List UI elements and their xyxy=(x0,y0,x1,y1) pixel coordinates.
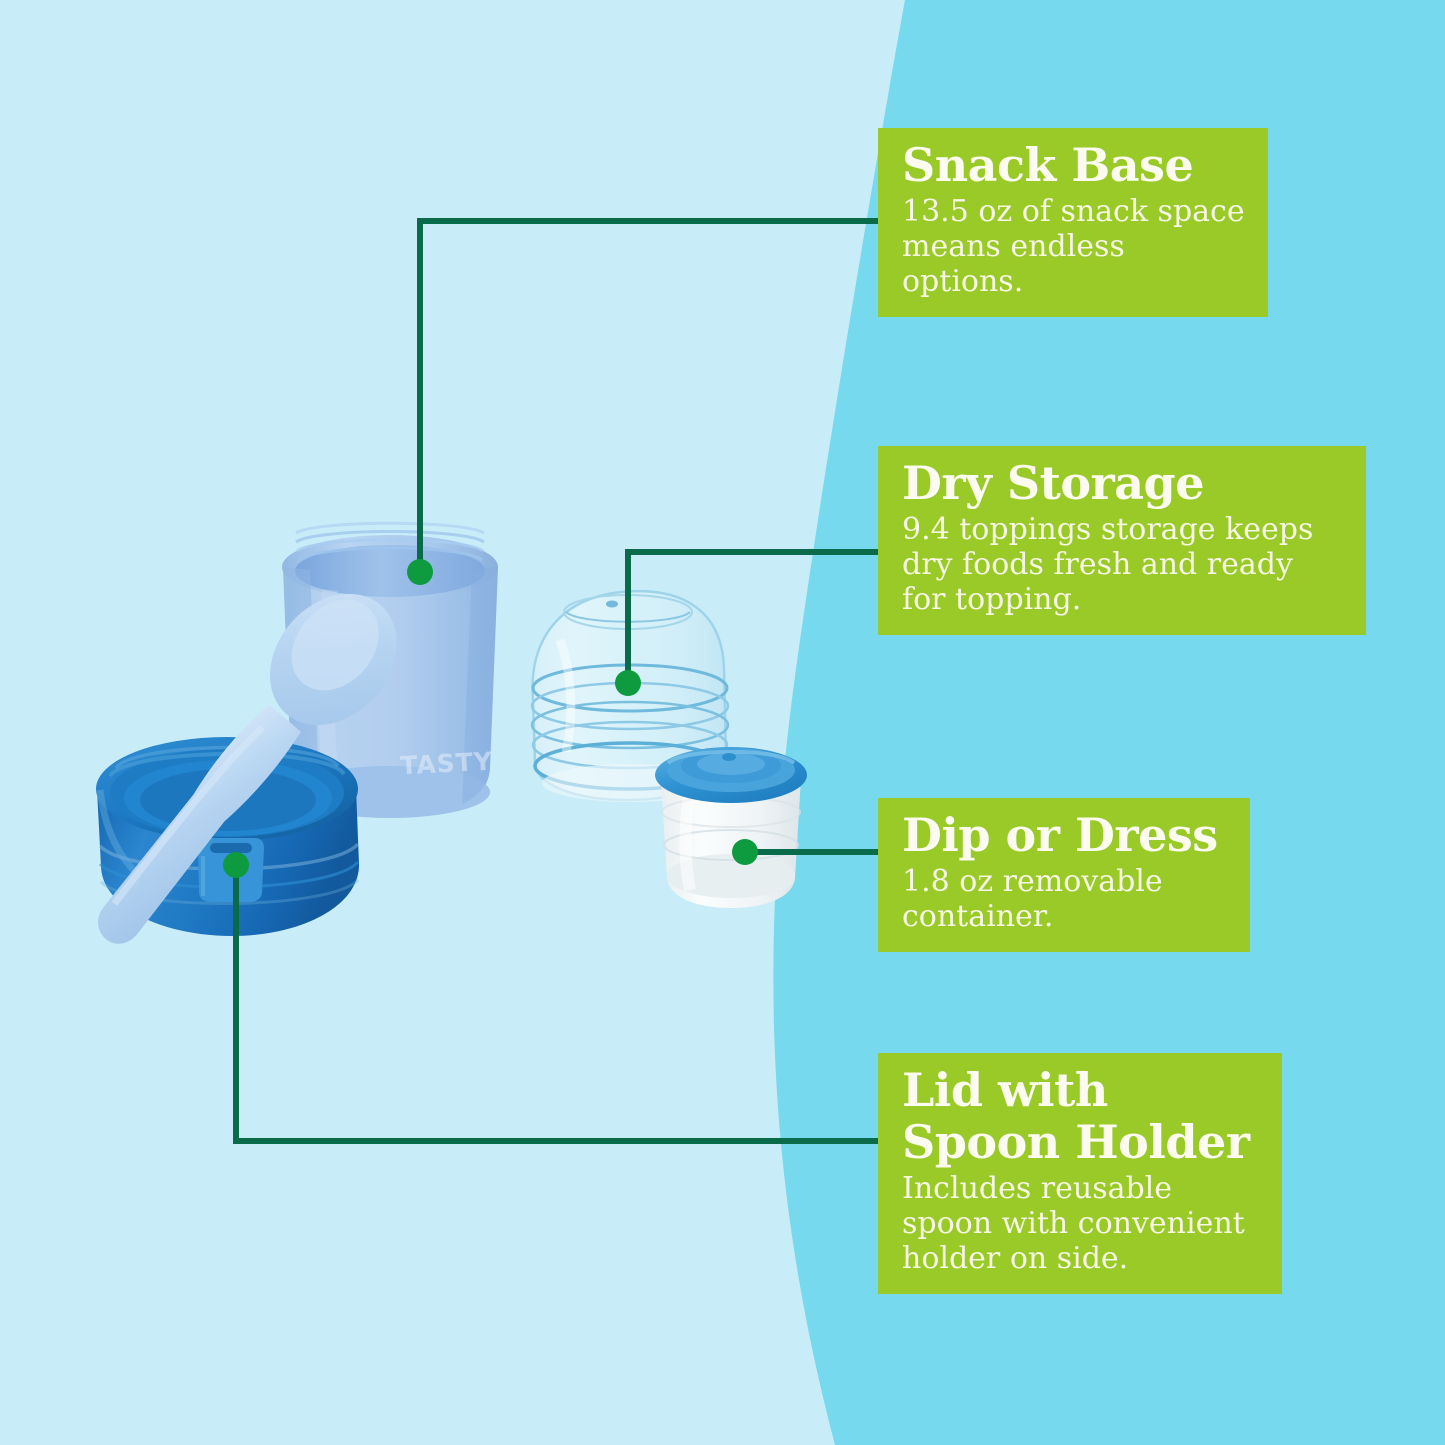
callout-description-snack-base: 13.5 oz of snack space means endless opt… xyxy=(902,194,1246,299)
callout-title-lid-line1: Lid with xyxy=(902,1067,1260,1114)
callout-snack-base: Snack Base 13.5 oz of snack space means … xyxy=(878,128,1268,317)
callout-title-lid-line2: Spoon Holder xyxy=(902,1119,1260,1166)
tasty-logo: TASTY xyxy=(400,747,494,781)
svg-text:TASTY: TASTY xyxy=(400,747,494,781)
infographic-canvas: TASTY xyxy=(0,0,1445,1445)
callout-title-dip-or-dress: Dip or Dress xyxy=(902,812,1228,859)
callout-dip-or-dress: Dip or Dress 1.8 oz removable container. xyxy=(878,798,1250,952)
dip-container-art xyxy=(655,747,807,908)
callout-description-lid-with-spoon-holder: Includes reusable spoon with convenient … xyxy=(902,1171,1260,1276)
spoon-holder-clip xyxy=(198,838,264,902)
callout-lid-with-spoon-holder: Lid with Spoon Holder Includes reusable … xyxy=(878,1053,1282,1294)
callout-dry-storage: Dry Storage 9.4 toppings storage keeps d… xyxy=(878,446,1366,635)
callout-description-dry-storage: 9.4 toppings storage keeps dry foods fre… xyxy=(902,512,1344,617)
callout-title-dry-storage: Dry Storage xyxy=(902,460,1344,507)
callout-title-snack-base: Snack Base xyxy=(902,142,1246,189)
callout-description-dip-or-dress: 1.8 oz removable container. xyxy=(902,864,1228,934)
